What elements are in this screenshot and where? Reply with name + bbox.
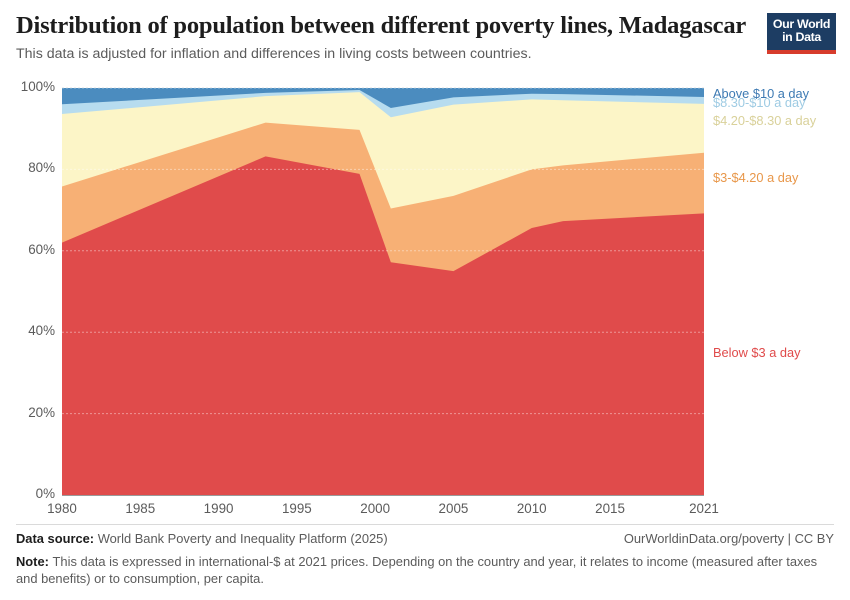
footer-note: Note: This data is expressed in internat… — [16, 553, 834, 588]
footer-link[interactable]: OurWorldinData.org/poverty | CC BY — [624, 531, 834, 546]
y-axis-tick-label: 20% — [7, 405, 55, 420]
x-axis-tick-label: 2005 — [423, 501, 483, 516]
y-axis-tick-label: 0% — [7, 486, 55, 501]
x-axis-tick-label: 2021 — [674, 501, 734, 516]
area-series-group — [62, 88, 704, 495]
note-label: Note: — [16, 554, 49, 569]
x-axis-tick-label: 2010 — [502, 501, 562, 516]
y-axis-tick-label: 100% — [7, 79, 55, 94]
x-axis-tick-label: 2015 — [580, 501, 640, 516]
y-axis-tick-label: 60% — [7, 242, 55, 257]
data-source-label: Data source: — [16, 531, 94, 546]
x-axis-tick-label: 1985 — [110, 501, 170, 516]
y-axis-tick-label: 40% — [7, 323, 55, 338]
note-text: This data is expressed in international-… — [16, 554, 817, 586]
chart-plot-area: 0%20%40%60%80%100% 198019851990199520002… — [0, 0, 850, 600]
x-axis-tick-label: 1995 — [267, 501, 327, 516]
y-axis-tick-label: 80% — [7, 160, 55, 175]
footer-top-row: Data source: World Bank Poverty and Ineq… — [16, 531, 834, 550]
footer-divider — [16, 524, 834, 525]
data-source: Data source: World Bank Poverty and Ineq… — [16, 531, 388, 546]
x-axis-tick-label: 2000 — [345, 501, 405, 516]
series-label-4-20-8-30-a-day[interactable]: $4.20-$8.30 a day — [713, 115, 816, 128]
series-label-8-30-10-a-day[interactable]: $8.30-$10 a day — [713, 97, 806, 110]
series-label-below-3-a-day[interactable]: Below $3 a day — [713, 347, 801, 360]
x-axis-tick-label: 1990 — [189, 501, 249, 516]
series-label-3-4-20-a-day[interactable]: $3-$4.20 a day — [713, 172, 798, 185]
chart-footer: Data source: World Bank Poverty and Ineq… — [16, 531, 834, 550]
chart-page: Distribution of population between diffe… — [0, 0, 850, 600]
data-source-value: World Bank Poverty and Inequality Platfo… — [98, 531, 388, 546]
x-axis-tick-label: 1980 — [32, 501, 92, 516]
